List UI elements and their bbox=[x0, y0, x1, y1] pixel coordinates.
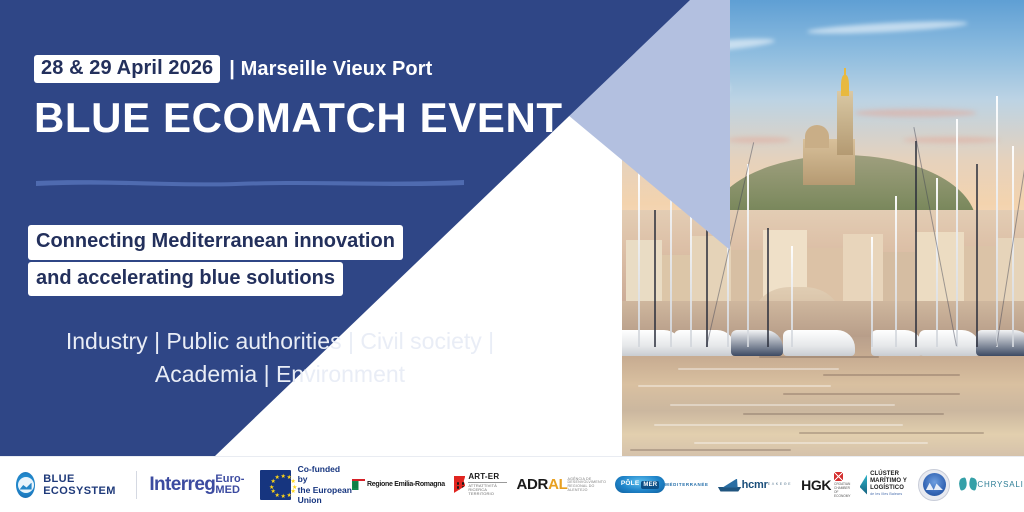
blue-seal-icon bbox=[918, 469, 950, 501]
hcmr-boat-icon bbox=[718, 478, 742, 492]
hero-content: 28 & 29 April 2026 | Marseille Vieux Por… bbox=[0, 0, 560, 456]
hero-section: 28 & 29 April 2026 | Marseille Vieux Por… bbox=[0, 0, 1024, 456]
logo-adral[interactable]: ADRAL AGÊNCIA DE DESENVOLVIMENTO REGIONA… bbox=[516, 477, 606, 492]
logo-eu-cofunded[interactable]: ★ ★ ★ ★ ★ ★ ★ ★ ★ ★ ★ ★ Co-funded by the… bbox=[260, 464, 353, 505]
audience-list: Industry | Public authorities | Civil so… bbox=[0, 325, 560, 390]
basilica-dome bbox=[805, 125, 829, 148]
logo-pole-mer[interactable]: PÔLE MER MÉDITERRANÉE bbox=[615, 476, 709, 493]
cloud bbox=[903, 137, 999, 143]
pole-mer-label-2: MER bbox=[641, 481, 659, 489]
chrysalis-line-1: CHRYSALIS bbox=[977, 481, 1024, 489]
blue-ecosystem-label: BLUE ECOSYSTEM bbox=[43, 473, 122, 497]
logo-chrysalis-leap[interactable]: CHRYSALIS LEAP bbox=[959, 478, 1024, 491]
event-date-chip: 28 & 29 April 2026 bbox=[34, 55, 220, 83]
basilica-tower bbox=[837, 91, 853, 155]
logo-cluster-maritimo[interactable]: CLÚSTER MARÍTIMO Y LOGÍSTICO de les Ille… bbox=[860, 471, 910, 497]
cluster-sail-icon bbox=[860, 475, 868, 495]
pole-mer-label-1: PÔLE bbox=[621, 481, 640, 488]
dateline: 28 & 29 April 2026 | Marseille Vieux Por… bbox=[34, 55, 432, 83]
pole-mer-icon: PÔLE MER bbox=[615, 476, 665, 493]
tagline-line-1: Connecting Mediterranean innovation bbox=[28, 225, 403, 260]
emilia-romagna-label: Regione Emilia-Romagna bbox=[367, 481, 445, 488]
hcmr-label: hcmr bbox=[742, 480, 768, 491]
art-er-subtitle: ATTRATTIVITÀ RICERCA TERRITORIO bbox=[468, 482, 507, 496]
adral-label: ADRAL bbox=[516, 477, 567, 492]
emilia-romagna-icon bbox=[352, 479, 365, 490]
interreg-label: Interreg bbox=[149, 475, 215, 494]
eu-cofunded-line-1: Co-funded by bbox=[298, 464, 352, 485]
basilica-spire bbox=[844, 68, 847, 79]
cloud bbox=[855, 109, 976, 116]
blue-ecosystem-icon bbox=[16, 472, 35, 498]
art-er-icon bbox=[454, 476, 465, 493]
logo-blue-ecosystem[interactable]: BLUE ECOSYSTEM bbox=[16, 472, 123, 498]
logo-footer: BLUE ECOSYSTEM Interreg Euro-MED ★ ★ ★ ★… bbox=[0, 456, 1024, 512]
primary-logo-group: BLUE ECOSYSTEM Interreg Euro-MED ★ ★ ★ ★… bbox=[0, 464, 352, 505]
audience-line-1: Industry | Public authorities | Civil so… bbox=[0, 325, 560, 358]
logo-interreg[interactable]: Interreg Euro-MED bbox=[149, 473, 244, 496]
wave-divider bbox=[36, 178, 464, 187]
event-banner: 28 & 29 April 2026 | Marseille Vieux Por… bbox=[0, 0, 1024, 512]
page-title: BLUE ECOMATCH EVENT bbox=[34, 96, 563, 140]
art-er-label: ART-ER bbox=[468, 473, 507, 481]
logo-blue-seal[interactable] bbox=[918, 469, 950, 501]
cluster-subtitle: de les Illes Balears bbox=[870, 492, 902, 496]
eu-cofunded-line-2: the European Union bbox=[298, 485, 352, 506]
hgk-label: HGK bbox=[801, 477, 831, 493]
hgk-subtitle: CROATIAN CHAMBER OF ECONOMY bbox=[834, 482, 850, 498]
cluster-line-2: LOGÍSTICO bbox=[870, 485, 904, 491]
tagline: Connecting Mediterranean innovation and … bbox=[28, 225, 403, 298]
wave-divider-shape bbox=[36, 178, 464, 187]
logo-hgk[interactable]: HGK CROATIAN CHAMBER OF ECONOMY bbox=[801, 472, 850, 498]
eu-flag-icon: ★ ★ ★ ★ ★ ★ ★ ★ ★ ★ ★ ★ bbox=[260, 470, 291, 500]
moored-boats bbox=[622, 319, 1024, 355]
logo-hcmr[interactable]: hcmr ΕΛΚΕΘΕ bbox=[718, 478, 793, 492]
logo-divider bbox=[136, 471, 137, 499]
audience-line-2: Academia | Environment bbox=[0, 358, 560, 391]
tagline-line-2: and accelerating blue solutions bbox=[28, 262, 343, 297]
interreg-programme: Euro-MED bbox=[215, 474, 244, 496]
eu-cofunded-text: Co-funded by the European Union bbox=[298, 464, 352, 505]
partner-logo-group: Regione Emilia-Romagna ART-ER ATTRATTIVI… bbox=[352, 469, 1024, 501]
logo-art-er[interactable]: ART-ER ATTRATTIVITÀ RICERCA TERRITORIO bbox=[454, 473, 508, 496]
logo-regione-emilia-romagna[interactable]: Regione Emilia-Romagna bbox=[352, 479, 445, 490]
cluster-line-1: CLÚSTER MARÍTIMO Y bbox=[870, 471, 909, 484]
hcmr-subtitle: ΕΛΚΕΘΕ bbox=[768, 483, 792, 487]
chrysalis-butterfly-icon bbox=[959, 478, 977, 490]
adral-subtitle: AGÊNCIA DE DESENVOLVIMENTO REGIONAL DO A… bbox=[567, 478, 606, 492]
event-location: | Marseille Vieux Port bbox=[220, 58, 432, 81]
cloud bbox=[727, 137, 791, 143]
croatian-checkerboard-icon bbox=[834, 472, 843, 481]
pole-mer-subtitle: MÉDITERRANÉE bbox=[665, 483, 709, 487]
